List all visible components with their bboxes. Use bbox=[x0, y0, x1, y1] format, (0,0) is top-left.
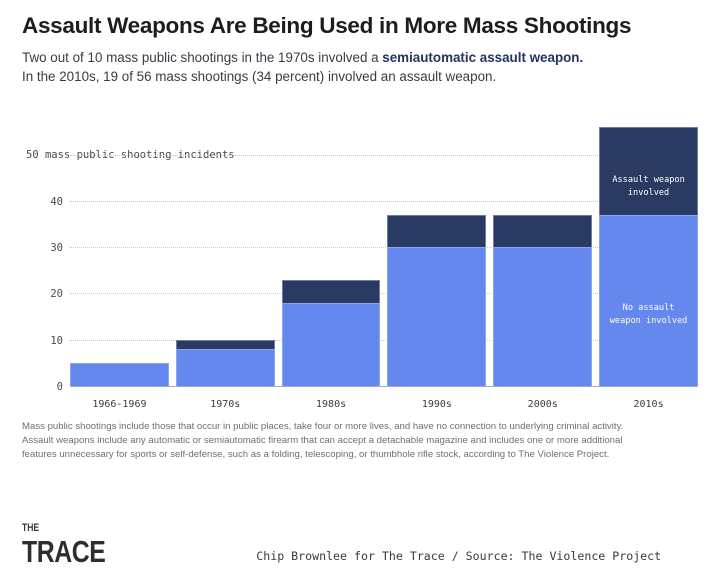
subtitle-line2: In the 2010s, 19 of 56 mass shootings (3… bbox=[22, 69, 496, 84]
x-tick-1990s: 1990s bbox=[387, 399, 486, 410]
y-tick-10: 10 bbox=[50, 335, 63, 347]
y-tick-40: 40 bbox=[50, 196, 63, 208]
chart-container: 01020304050 mass public shooting inciden… bbox=[22, 100, 698, 410]
bar-segment-assault-weapon[interactable] bbox=[176, 340, 275, 349]
credit-line: Chip Brownlee for The Trace / Source: Th… bbox=[256, 549, 661, 567]
x-tick-2000s: 2000s bbox=[493, 399, 592, 410]
bar-segment-no-assault-weapon[interactable] bbox=[387, 247, 486, 386]
header: Assault Weapons Are Being Used in More M… bbox=[0, 0, 720, 86]
infographic-page: Assault Weapons Are Being Used in More M… bbox=[0, 0, 720, 577]
footnote-line-1: Mass public shootings include those that… bbox=[22, 420, 698, 434]
bar-segment-assault-weapon[interactable] bbox=[493, 215, 592, 247]
plot-area: 01020304050 mass public shooting inciden… bbox=[70, 118, 698, 386]
bar-segment-no-assault-weapon[interactable]: No assaultweapon involved bbox=[599, 215, 698, 386]
x-tick-1966-1969: 1966-1969 bbox=[70, 399, 169, 410]
subtitle-emphasis: semiautomatic assault weapon. bbox=[382, 50, 583, 65]
footnote: Mass public shootings include those that… bbox=[22, 420, 698, 462]
bar-column[interactable] bbox=[176, 118, 275, 386]
bar-segment-no-assault-weapon[interactable] bbox=[282, 303, 381, 386]
gridline-0: 0 bbox=[70, 386, 698, 387]
bar-segment-assault-weapon[interactable] bbox=[387, 215, 486, 247]
x-tick-1980s: 1980s bbox=[282, 399, 381, 410]
bar-column[interactable] bbox=[282, 118, 381, 386]
y-tick-0: 0 bbox=[57, 381, 63, 393]
annotation-no-assault-weapon-involved-line2: weapon involved bbox=[604, 315, 693, 328]
bar-column[interactable] bbox=[70, 118, 169, 386]
subtitle-line1-text: Two out of 10 mass public shootings in t… bbox=[22, 50, 382, 65]
annotation-no-assault-weapon-involved: No assaultweapon involved bbox=[600, 302, 697, 328]
y-tick-20: 20 bbox=[50, 288, 63, 300]
annotation-assault-weapon-involved-line2: involved bbox=[604, 187, 693, 200]
footer: THE TRACE Chip Brownlee for The Trace / … bbox=[0, 523, 720, 567]
logo-line-trace: TRACE bbox=[22, 536, 105, 567]
bar-segment-assault-weapon[interactable]: Assault weaponinvolved bbox=[599, 127, 698, 215]
bar-series: Assault weaponinvolvedNo assaultweapon i… bbox=[70, 118, 698, 386]
bar-segment-no-assault-weapon[interactable] bbox=[176, 349, 275, 386]
y-tick-30: 30 bbox=[50, 242, 63, 254]
x-tick-1970s: 1970s bbox=[176, 399, 275, 410]
x-axis-labels: 1966-19691970s1980s1990s2000s2010s bbox=[70, 399, 698, 410]
x-tick-2010s: 2010s bbox=[599, 399, 698, 410]
the-trace-logo: THE TRACE bbox=[22, 523, 126, 567]
bar-segment-assault-weapon[interactable] bbox=[282, 280, 381, 303]
bar-column[interactable]: Assault weaponinvolvedNo assaultweapon i… bbox=[599, 118, 698, 386]
subtitle: Two out of 10 mass public shootings in t… bbox=[22, 48, 698, 86]
bar-segment-no-assault-weapon[interactable] bbox=[70, 363, 169, 386]
footnote-line-3: features unnecessary for sports or self-… bbox=[22, 448, 698, 462]
bar-column[interactable] bbox=[387, 118, 486, 386]
annotation-assault-weapon-involved: Assault weaponinvolved bbox=[600, 174, 697, 200]
footnote-line-2: Assault weapons include any automatic or… bbox=[22, 434, 698, 448]
bar-segment-no-assault-weapon[interactable] bbox=[493, 247, 592, 386]
page-title: Assault Weapons Are Being Used in More M… bbox=[22, 14, 698, 39]
bar-column[interactable] bbox=[493, 118, 592, 386]
logo-line-the: THE bbox=[22, 523, 103, 534]
